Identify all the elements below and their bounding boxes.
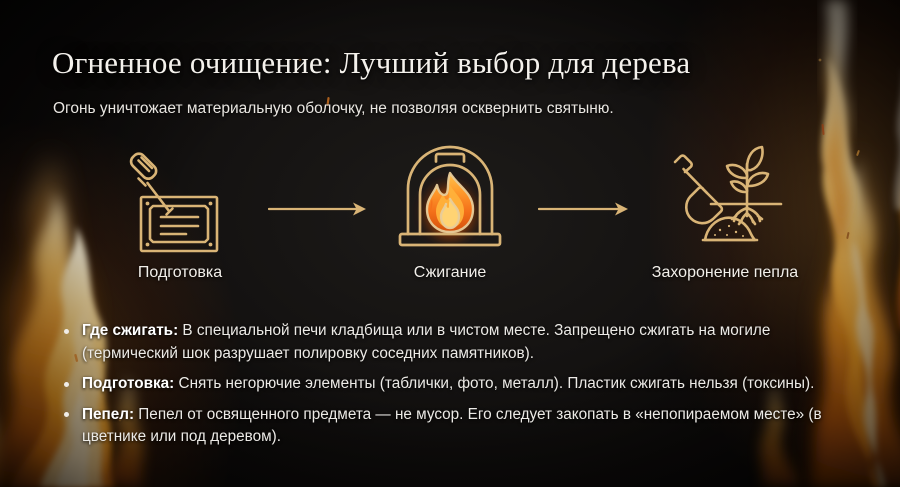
list-item: Пепел: Пепел от освященного предмета — н… <box>60 404 860 449</box>
step-label-burning: Сжигание <box>414 264 487 282</box>
step-label-ash-burial: Захоронение пепла <box>652 264 798 282</box>
bullet-lead: Подготовка: <box>82 375 174 392</box>
list-item: Где сжигать: В специальной печи кладбища… <box>60 320 860 365</box>
step-burning[interactable]: Сжигание <box>350 136 550 306</box>
process-steps: Подготовка <box>0 136 900 306</box>
bullet-lead: Пепел: <box>82 406 134 423</box>
arrow-right-icon-2 <box>538 198 630 220</box>
screwdriver-plaque-icon <box>120 136 240 260</box>
step-ash-burial[interactable]: Захоронение пепла <box>625 136 825 306</box>
shovel-plant-icon <box>659 136 791 260</box>
bullet-text: Снять негорючие элементы (таблички, фото… <box>174 375 814 392</box>
page-title: Огненное очищение: Лучший выбор для дере… <box>52 44 690 82</box>
bullet-text: В специальной печи кладбища или в чистом… <box>82 322 770 362</box>
list-item: Подготовка: Снять негорючие элементы (та… <box>60 373 860 396</box>
bullet-dot-icon <box>64 329 69 334</box>
step-preparation[interactable]: Подготовка <box>80 136 280 306</box>
bullet-text: Пепел от освященного предмета — не мусор… <box>82 406 822 446</box>
arrow-right-icon-1 <box>268 198 368 220</box>
rules-list: Где сжигать: В специальной печи кладбища… <box>60 320 860 449</box>
step-label-preparation: Подготовка <box>138 264 222 282</box>
slide-canvas: Огненное очищение: Лучший выбор для дере… <box>0 0 900 487</box>
furnace-flame-icon <box>389 136 511 260</box>
bullet-lead: Где сжигать: <box>82 322 178 339</box>
bullet-dot-icon <box>64 412 69 417</box>
slide-content: Огненное очищение: Лучший выбор для дере… <box>0 0 900 487</box>
bullet-dot-icon <box>64 382 69 387</box>
page-subtitle: Огонь уничтожает материальную оболочку, … <box>53 98 614 119</box>
